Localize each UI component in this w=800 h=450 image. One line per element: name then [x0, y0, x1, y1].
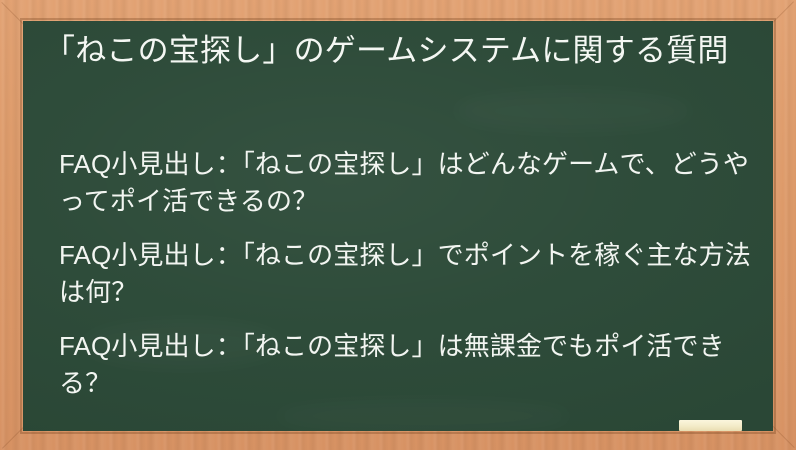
faq-item: FAQ小見出し：「ねこの宝探し」は無課金でもポイ活できる？: [59, 328, 759, 402]
chalkboard-slide: 「ねこの宝探し」のゲームシステムに関する質問 FAQ小見出し：「ねこの宝探し」は…: [0, 0, 800, 450]
slide-title: 「ねこの宝探し」のゲームシステムに関する質問: [44, 30, 754, 72]
faq-item: FAQ小見出し：「ねこの宝探し」でポイントを稼ぐ主な方法は何？: [59, 237, 759, 311]
faq-item: FAQ小見出し：「ねこの宝探し」はどんなゲームで、どうやってポイ活できるの？: [59, 146, 759, 220]
chalk-smudge: [453, 91, 693, 131]
faq-list: FAQ小見出し：「ねこの宝探し」はどんなゲームで、どうやってポイ活できるの？ F…: [59, 146, 759, 418]
chalk-stick-icon: [679, 420, 742, 431]
chalkboard-surface: 「ねこの宝探し」のゲームシステムに関する質問 FAQ小見出し：「ねこの宝探し」は…: [23, 21, 773, 431]
